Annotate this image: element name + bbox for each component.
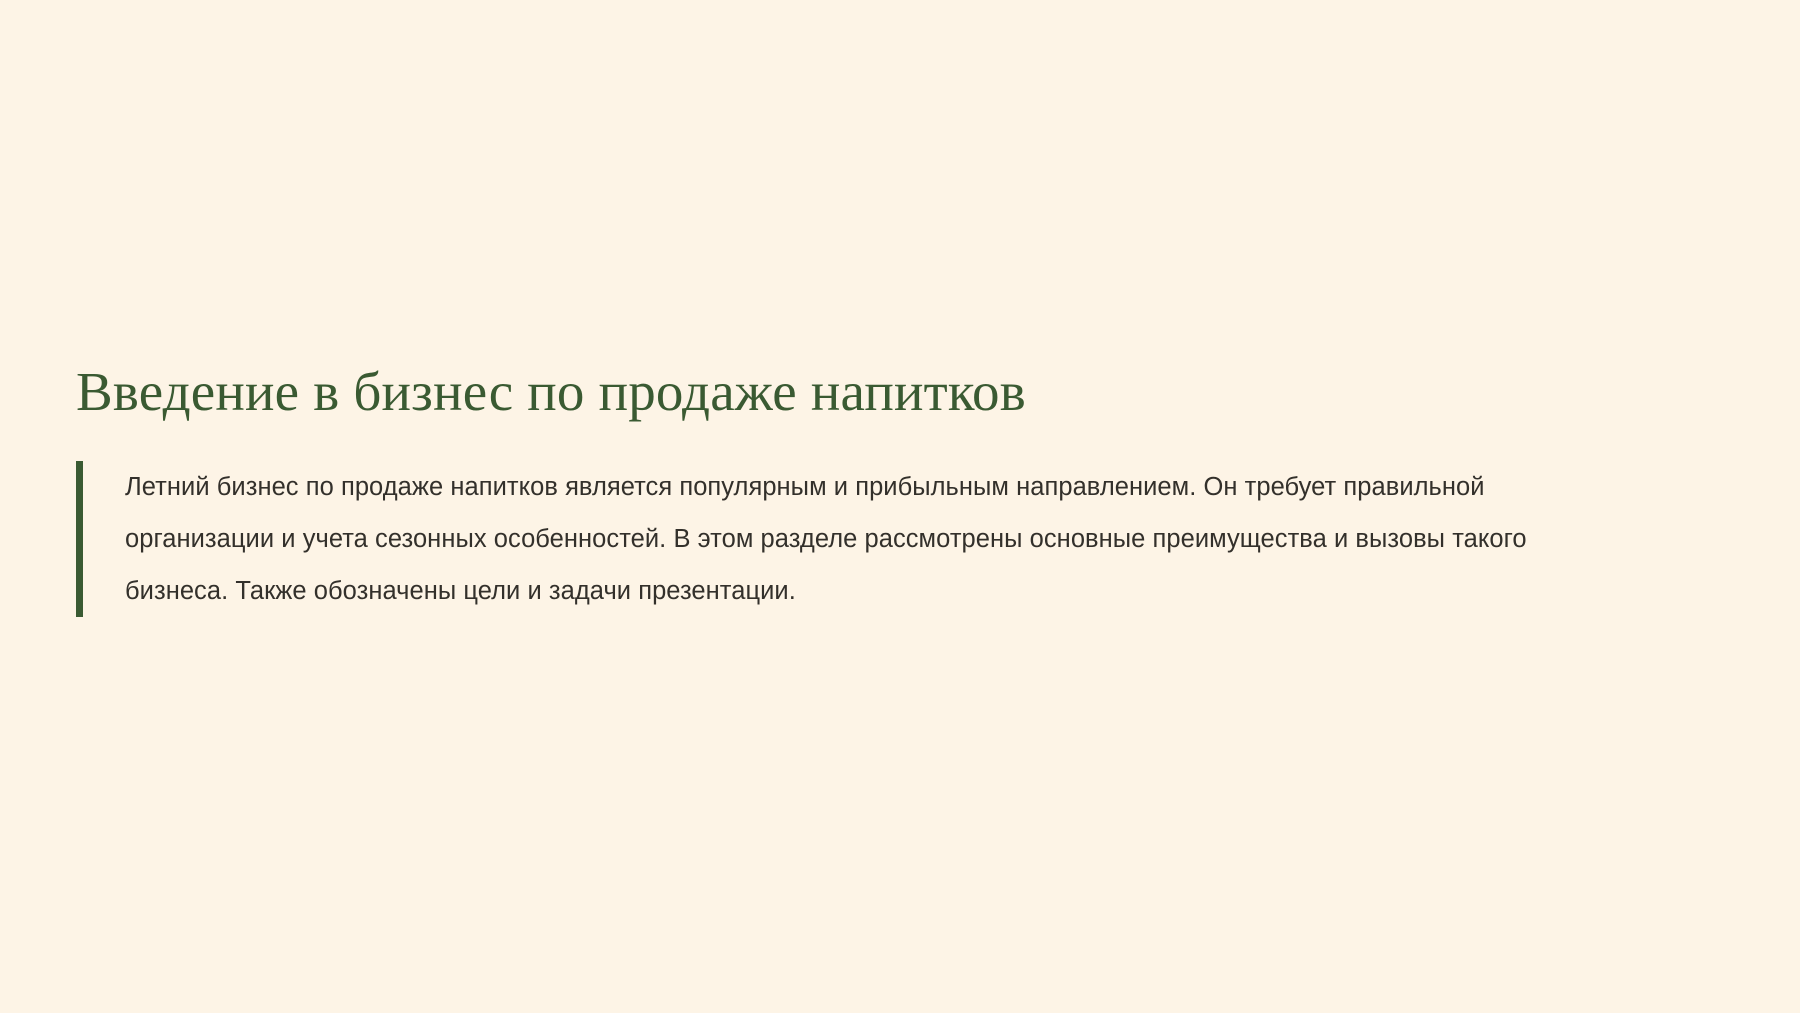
slide-root: Введение в бизнес по продаже напитков Ле… bbox=[0, 0, 1800, 1013]
body-text-container: Летний бизнес по продаже напитков являет… bbox=[83, 461, 1636, 617]
body-callout-block: Летний бизнес по продаже напитков являет… bbox=[76, 461, 1636, 617]
slide-content: Введение в бизнес по продаже напитков Ле… bbox=[76, 360, 1716, 617]
slide-title: Введение в бизнес по продаже напитков bbox=[76, 360, 1716, 425]
accent-bar bbox=[76, 461, 83, 617]
body-paragraph: Летний бизнес по продаже напитков являет… bbox=[125, 461, 1605, 617]
